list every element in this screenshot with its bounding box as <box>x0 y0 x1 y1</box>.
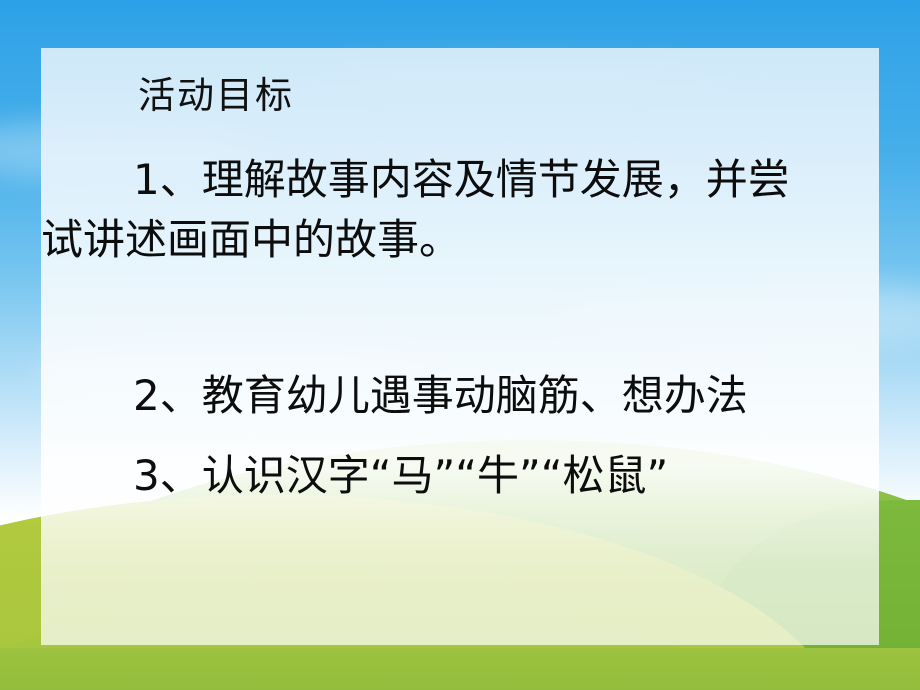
bullet-item-1: 1、理解故事内容及情节发展，并尝 试讲述画面中的故事。 <box>41 150 869 270</box>
content-panel: 活动目标 1、理解故事内容及情节发展，并尝 试讲述画面中的故事。 2、教育幼儿遇… <box>41 48 879 645</box>
bullet-item-2: 2、教育幼儿遇事动脑筋、想办法 <box>41 366 920 426</box>
hill-base-strip <box>0 648 920 690</box>
slide-canvas: 活动目标 1、理解故事内容及情节发展，并尝 试讲述画面中的故事。 2、教育幼儿遇… <box>0 0 920 690</box>
slide-text-block: 活动目标 1、理解故事内容及情节发展，并尝 试讲述画面中的故事。 2、教育幼儿遇… <box>41 48 879 645</box>
bullet-1-line-b: 试讲述画面中的故事。 <box>41 210 869 270</box>
bullet-item-3: 3、认识汉字“马”“牛”“松鼠” <box>41 446 920 506</box>
bullet-1-line-a: 1、理解故事内容及情节发展，并尝 <box>49 150 869 210</box>
slide-title: 活动目标 <box>138 72 294 120</box>
